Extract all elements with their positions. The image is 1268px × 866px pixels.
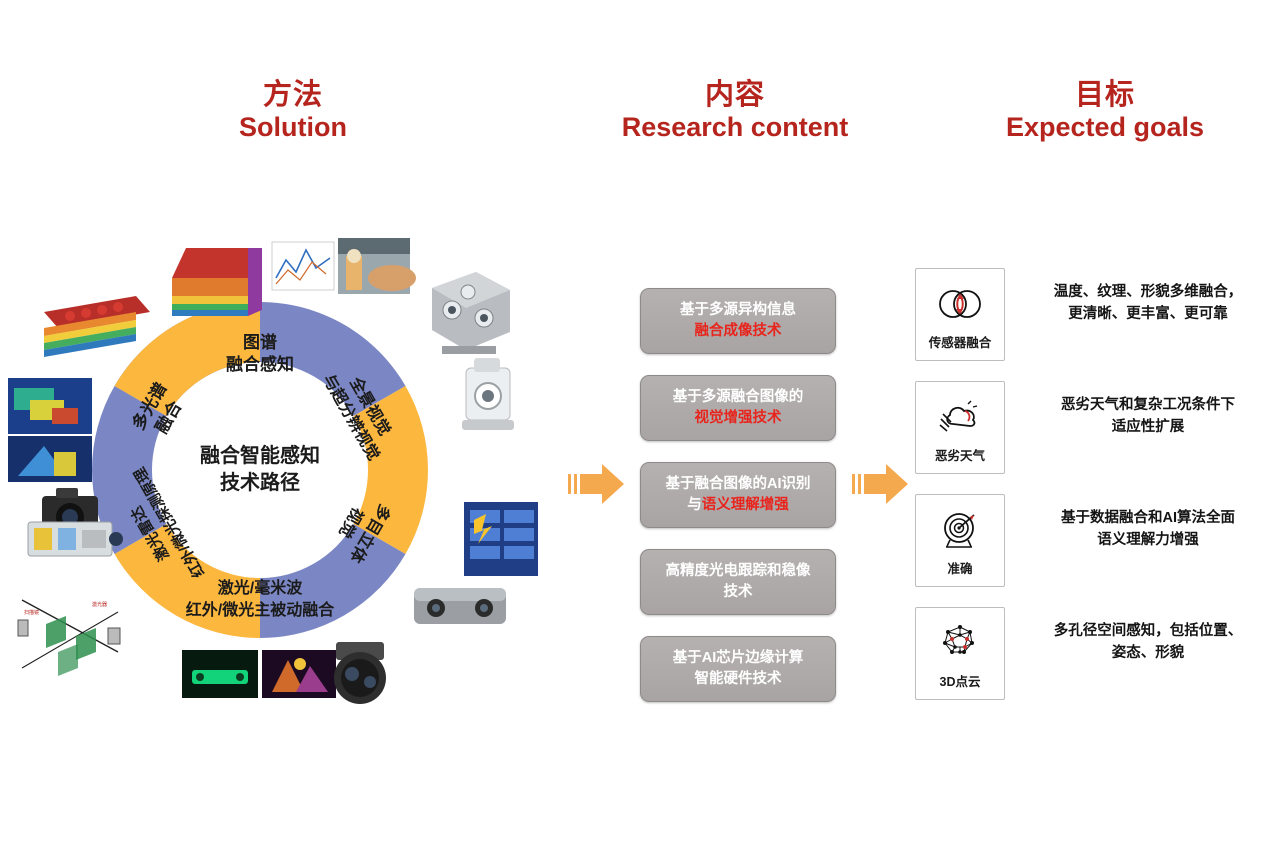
- header-goals-en: Expected goals: [960, 112, 1250, 144]
- research-box-line2: 视觉增强技术: [649, 408, 827, 429]
- header-solution-en: Solution: [168, 112, 418, 144]
- research-box-line1: 基于融合图像的AI识别: [649, 474, 827, 495]
- research-box-line2: 语义理解增强: [702, 497, 789, 513]
- goal-card-label: 传感器融合: [929, 332, 992, 351]
- header-content-cn: 内容: [600, 78, 870, 112]
- thermal-image-thumb: [8, 378, 92, 482]
- stereo-camera-thumb: [414, 588, 506, 624]
- goal-text-accuracy: 基于数据融合和AI算法全面 语义理解力增强: [1033, 508, 1263, 552]
- research-box-line2: 技术: [649, 582, 827, 603]
- header-content-en: Research content: [600, 112, 870, 144]
- header-expected-goals: 目标 Expected goals: [960, 78, 1250, 144]
- goal-text-point-cloud: 多孔径空间感知，包括位置、 姿态、形貌: [1033, 621, 1263, 665]
- night-vision-screens-thumb: [182, 650, 336, 698]
- goal-card-label: 恶劣天气: [935, 445, 985, 464]
- optics-schematic-thumb: 扫描镜 激光器: [14, 592, 130, 680]
- rain-cloud-icon: [935, 392, 985, 442]
- goal-card-accuracy[interactable]: 准确: [915, 494, 1005, 587]
- research-box-line2: 融合成像技术: [649, 321, 827, 342]
- goal-card-label: 3D点云: [940, 671, 981, 690]
- device-thumbnails-group: 扫描镜 激光器: [0, 200, 540, 720]
- header-solution-cn: 方法: [168, 78, 418, 112]
- goal-text-line2: 更清晰、更丰富、更可靠: [1033, 304, 1263, 326]
- goal-text-line1: 多孔径空间感知，包括位置、: [1033, 621, 1263, 643]
- optical-instrument-thumb: [462, 358, 514, 430]
- research-box-line2-prefix: 与: [687, 497, 702, 513]
- research-box-ai-semantic[interactable]: 基于融合图像的AI识别 与语义理解增强: [640, 462, 836, 528]
- goal-text-bad-weather: 恶劣天气和复杂工况条件下 适应性扩展: [1033, 395, 1263, 439]
- goal-text-sensor-fusion: 温度、纹理、形貌多维融合， 更清晰、更丰富、更可靠: [1033, 282, 1263, 326]
- goal-text-line2: 姿态、形貌: [1033, 643, 1263, 665]
- hyperspectral-cube-thumb: [172, 248, 262, 316]
- 3d-reconstruction-thumb: [464, 502, 538, 576]
- research-box-fusion-imaging[interactable]: 基于多源异构信息 融合成像技术: [640, 288, 836, 354]
- overlapping-circles-icon: [935, 279, 985, 329]
- header-solution: 方法 Solution: [168, 78, 418, 144]
- arrow-solution-to-content: [568, 458, 630, 510]
- point-cloud-sphere-icon: [936, 618, 984, 668]
- goal-card-label: 准确: [947, 558, 972, 577]
- research-box-visual-enhance[interactable]: 基于多源融合图像的 视觉增强技术: [640, 375, 836, 441]
- research-box-tracking-stable[interactable]: 高精度光电跟踪和稳像 技术: [640, 549, 836, 615]
- research-box-line1: 高精度光电跟踪和稳像: [649, 561, 827, 582]
- panoramic-camera-thumb: [432, 272, 510, 354]
- research-box-line2-wrap: 与语义理解增强: [649, 495, 827, 516]
- goal-text-line1: 基于数据融合和AI算法全面: [1033, 508, 1263, 530]
- goal-card-sensor-fusion[interactable]: 传感器融合: [915, 268, 1005, 361]
- goal-text-line1: 温度、纹理、形貌多维融合，: [1033, 282, 1263, 304]
- pipeline-photo-thumb: [338, 238, 416, 294]
- goal-text-line2: 语义理解力增强: [1033, 530, 1263, 552]
- target-dart-icon: [936, 505, 984, 555]
- header-research-content: 内容 Research content: [600, 78, 870, 144]
- svg-text:扫描镜: 扫描镜: [24, 609, 39, 616]
- goal-card-bad-weather[interactable]: 恶劣天气: [915, 381, 1005, 474]
- goal-text-line2: 适应性扩展: [1033, 417, 1263, 439]
- arrow-content-to-goals: [852, 458, 914, 510]
- research-box-line1: 基于多源异构信息: [649, 300, 827, 321]
- gimbal-turret-thumb: [334, 642, 386, 704]
- research-content-column: 基于多源异构信息 融合成像技术 基于多源融合图像的 视觉增强技术 基于融合图像的…: [640, 288, 836, 723]
- research-box-line1: 基于多源融合图像的: [649, 387, 827, 408]
- header-goals-cn: 目标: [960, 78, 1250, 112]
- spectrum-plot-thumb: [272, 242, 334, 290]
- research-box-line1: 基于AI芯片边缘计算: [649, 648, 827, 669]
- goal-text-line1: 恶劣天气和复杂工况条件下: [1033, 395, 1263, 417]
- research-box-ai-edge-hardware[interactable]: 基于AI芯片边缘计算 智能硬件技术: [640, 636, 836, 702]
- goal-card-point-cloud-3d[interactable]: 3D点云: [915, 607, 1005, 700]
- svg-text:激光器: 激光器: [92, 601, 107, 608]
- research-box-line2: 智能硬件技术: [649, 669, 827, 690]
- spectral-slab-thumb: [44, 296, 150, 357]
- laser-module-thumb: [28, 522, 123, 556]
